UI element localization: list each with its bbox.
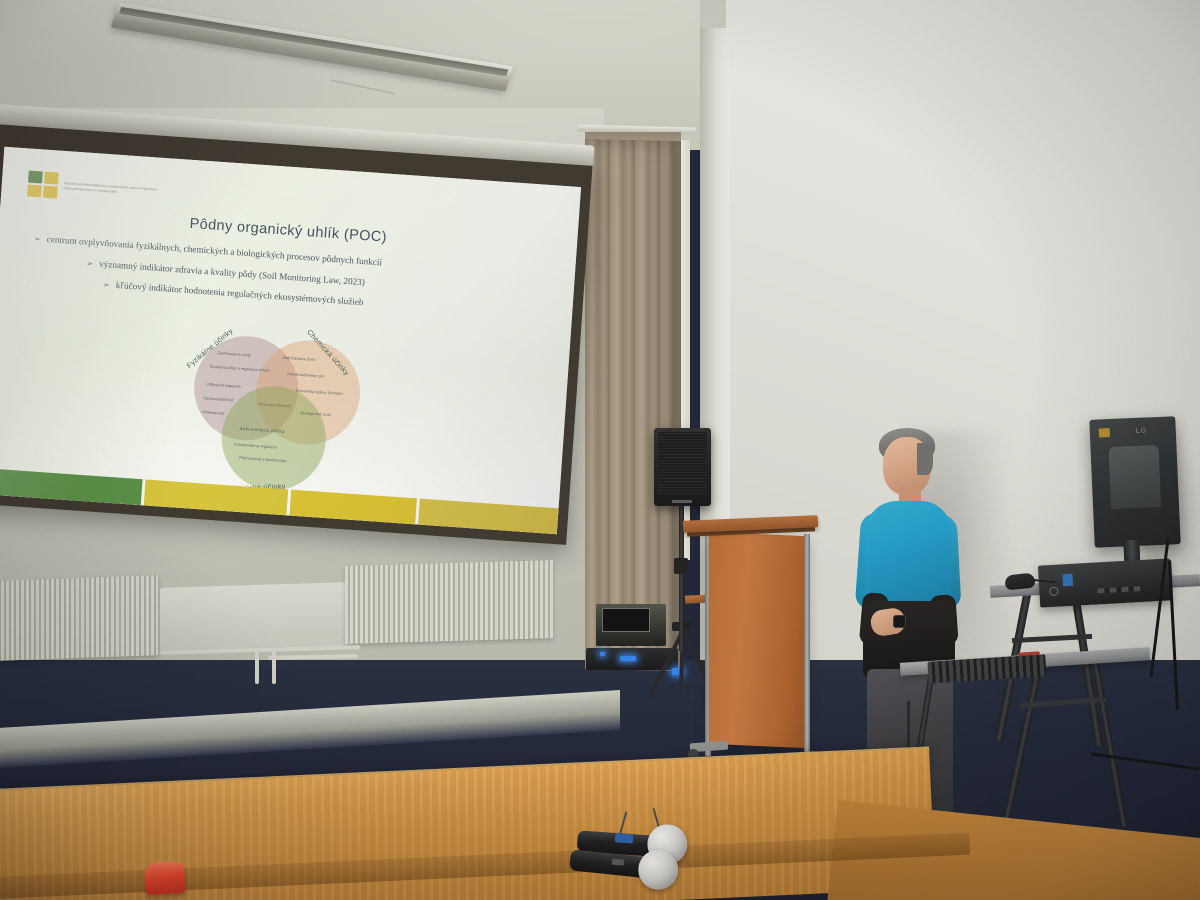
lectern-frame-right	[804, 534, 810, 760]
led-indicator-3	[600, 652, 605, 656]
photo-scene: Národná poľnohospodárska a potravinárska…	[0, 0, 1200, 900]
power-button-icon[interactable]	[1049, 587, 1058, 596]
pc-badge-icon	[1062, 574, 1073, 587]
slide-bar-segment-4	[418, 499, 558, 535]
radiator-panel-middle	[160, 582, 350, 652]
slide-bar-segment-3	[289, 490, 417, 525]
desktop-pc	[1038, 558, 1172, 607]
projection-screen-surface: Národná poľnohospodárska a potravinárska…	[0, 147, 581, 534]
av-equipment-rack	[596, 604, 666, 646]
pc-front-ports	[1097, 586, 1143, 594]
microphone-display	[615, 833, 634, 843]
projected-slide: Národná poľnohospodárska a potravinárska…	[0, 147, 581, 534]
presenter-hair-side	[917, 443, 933, 475]
speaker-stand-clamp	[674, 558, 688, 574]
slide-logo-icon	[27, 171, 59, 199]
radiator-pipe-vertical-2	[272, 650, 276, 684]
venn-diagram: Fyzikálne účinky Chemická účinky Biologi…	[178, 318, 378, 481]
wristwatch	[893, 615, 906, 628]
pa-speaker	[654, 428, 711, 506]
radiator-left	[0, 575, 158, 661]
monitor-sticker-icon	[1099, 428, 1110, 437]
curtain	[585, 139, 681, 671]
bullet-marker-icon: ➢	[103, 280, 110, 289]
lectern-body	[709, 532, 807, 748]
bullet-marker-icon: ➢	[86, 258, 93, 267]
bullet-marker-icon: ➢	[34, 234, 41, 243]
microphone-pair	[569, 823, 731, 900]
speaker-badge	[672, 500, 692, 503]
radiator-right	[345, 560, 553, 644]
radiator-pipe-vertical-1	[255, 648, 259, 684]
slide-bar-segment-1	[0, 468, 142, 505]
slide-logo-caption: Národná poľnohospodárska a potravinárska…	[64, 181, 164, 197]
led-indicator-1	[620, 656, 636, 661]
av-rack-display	[602, 608, 650, 632]
monitor-brand-label: LG	[1136, 427, 1148, 434]
microphone-head	[638, 849, 679, 890]
microphone-switch[interactable]	[612, 859, 625, 866]
speaker-grille	[658, 432, 707, 494]
projection-screen: Národná poľnohospodárska a potravinárska…	[0, 124, 593, 545]
monitor: LG	[1089, 416, 1181, 548]
monitor-rear-hump	[1108, 445, 1161, 509]
